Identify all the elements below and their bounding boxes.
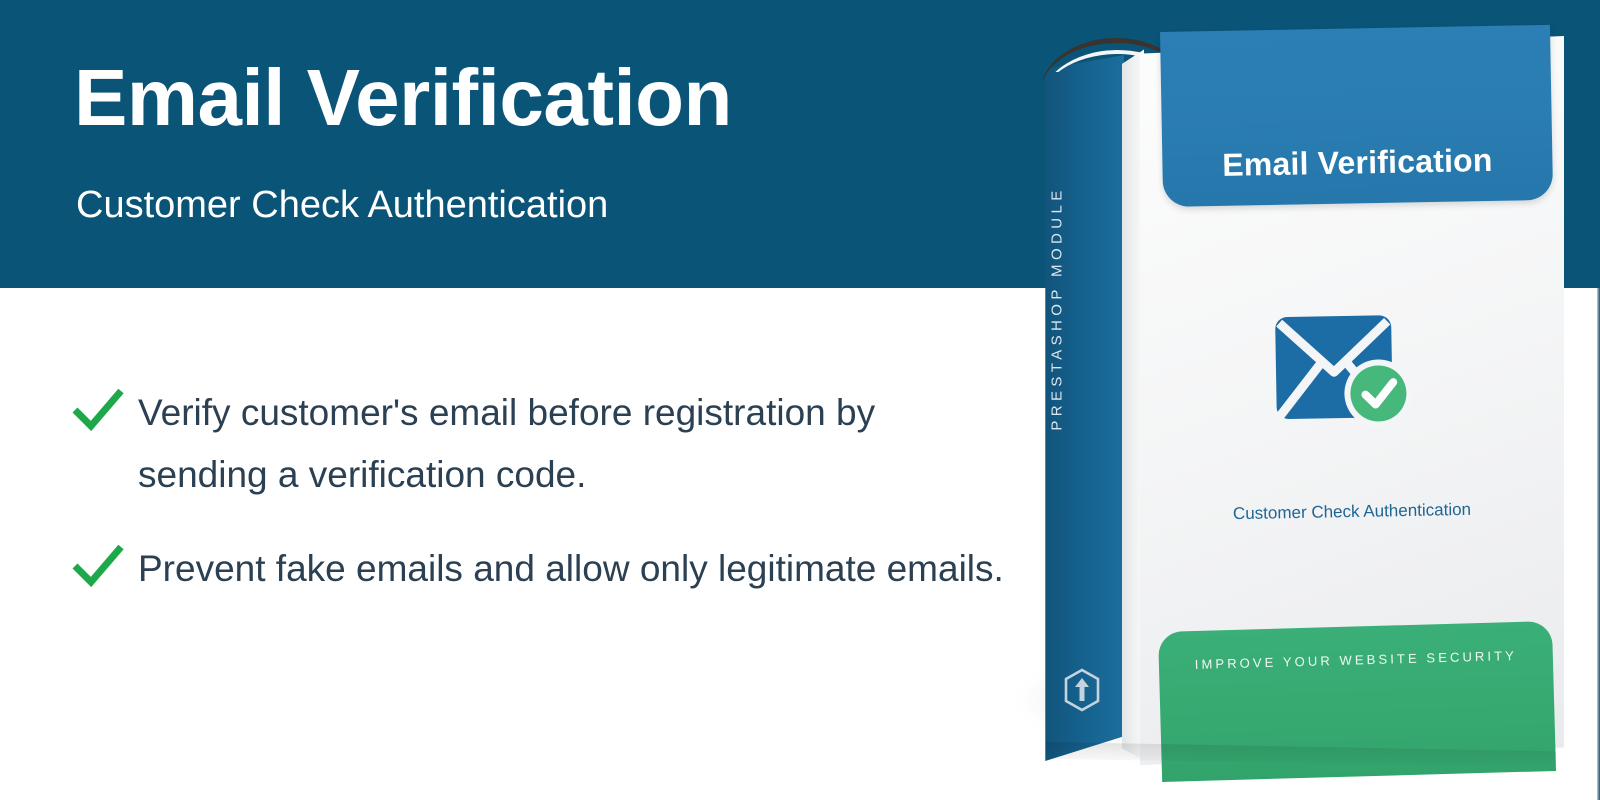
check-icon xyxy=(72,538,138,588)
check-icon xyxy=(72,382,138,432)
list-item: Verify customer's email before registrat… xyxy=(72,382,1012,506)
page-title: Email Verification xyxy=(74,58,732,138)
product-box-header-label: Email Verification xyxy=(1162,141,1553,185)
list-item-label: Verify customer's email before registrat… xyxy=(138,382,1012,506)
page-subtitle: Customer Check Authentication xyxy=(76,186,608,224)
product-box: PRESTASHOP MODULE Email Verification xyxy=(1010,0,1600,800)
list-item-label: Prevent fake emails and allow only legit… xyxy=(138,538,1004,600)
hexagon-arrow-logo-icon xyxy=(1062,668,1102,712)
feature-list: Verify customer's email before registrat… xyxy=(72,382,1012,632)
product-box-header-panel: Email Verification xyxy=(1160,25,1553,207)
promo-banner-canvas: Email Verification Customer Check Authen… xyxy=(0,0,1600,800)
envelope-check-icon xyxy=(1271,307,1421,434)
product-box-footer-label: IMPROVE YOUR WEBSITE SECURITY xyxy=(1159,647,1553,673)
list-item: Prevent fake emails and allow only legit… xyxy=(72,538,1012,600)
spine-label: PRESTASHOP MODULE xyxy=(1049,184,1066,434)
